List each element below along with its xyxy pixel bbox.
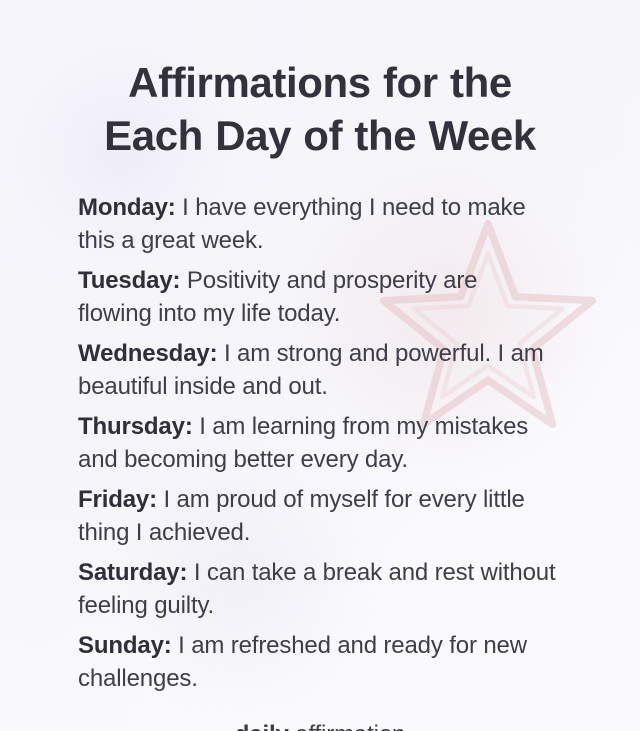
affirmations-list: Monday: I have everything I need to make…	[0, 162, 640, 695]
list-item: Sunday: I am refreshed and ready for new…	[0, 630, 640, 695]
day-label-wednesday: Wednesday:	[78, 340, 217, 367]
page-title-line-2: Each Day of the Week	[58, 109, 582, 162]
day-label-friday: Friday:	[78, 486, 157, 513]
page-title: Affirmations for the Each Day of the Wee…	[0, 0, 640, 162]
day-label-tuesday: Tuesday:	[78, 267, 180, 294]
poster-content: Affirmations for the Each Day of the Wee…	[0, 0, 640, 695]
list-item: Thursday: I am learning from my mistakes…	[0, 411, 640, 476]
footer-teaser-clipped: daily affirmation	[0, 719, 640, 731]
list-item: Friday: I am proud of myself for every l…	[0, 484, 640, 549]
list-item: Monday: I have everything I need to make…	[0, 192, 640, 257]
day-label-monday: Monday:	[78, 194, 176, 221]
list-item: Wednesday: I am strong and powerful. I a…	[0, 338, 640, 403]
list-item: Tuesday: Positivity and prosperity are f…	[0, 265, 640, 330]
footer-teaser-bold: daily	[235, 721, 289, 731]
affirmations-poster: Affirmations for the Each Day of the Wee…	[0, 0, 640, 731]
day-label-thursday: Thursday:	[78, 413, 193, 440]
day-label-sunday: Sunday:	[78, 632, 172, 659]
list-item: Saturday: I can take a break and rest wi…	[0, 557, 640, 622]
footer-teaser-rest: affirmation	[295, 721, 405, 731]
day-label-saturday: Saturday:	[78, 559, 187, 586]
page-title-line-1: Affirmations for the	[58, 56, 582, 109]
